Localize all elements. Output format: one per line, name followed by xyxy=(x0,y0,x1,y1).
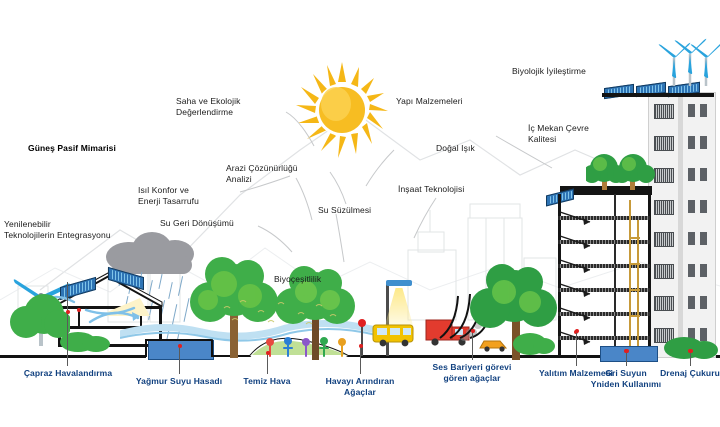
feature-label-yagmur-suyu-hasadi: Yağmur Suyu Hasadı xyxy=(122,376,236,387)
concept-label-ic-mekan-cevre-kalitesi: İç Mekan Çevre Kalitesi xyxy=(528,123,628,145)
feature-label-ses-bariyeri-goren-agaclar: Ses Bariyeri görevi gören ağaçlar xyxy=(420,362,524,384)
concept-label-insaat-teknolojisi: İnşaat Teknolojisi xyxy=(398,184,498,195)
concept-label-dogal-isik: Doğal Işık xyxy=(436,143,506,154)
feature-label-temiz-hava: Temiz Hava xyxy=(232,376,302,387)
concept-label-biyocesitlilik: Biyoçeşitlilik xyxy=(274,274,354,285)
feature-label-havayi-arindiran-agaclar: Havayı Arındıran Ağaçlar xyxy=(312,376,408,398)
infographic-canvas: Güneş Pasif MimarisiSaha ve Ekolojik Değ… xyxy=(0,0,720,427)
concept-label-yapi-malzemeleri: Yapı Malzemeleri xyxy=(396,96,496,107)
feature-label-capraz-havalandirma: Çapraz Havalandırma xyxy=(8,368,128,379)
concept-label-saha-ve-ekolojik-degerlendirme: Saha ve Ekolojik Değerlendirme xyxy=(176,96,286,118)
concept-label-arazi-cozunurlugu-analizi: Arazi Çözünürlüğü Analizi xyxy=(226,163,336,185)
concept-label-biyolojik-iyilestirme: Biyolojik İyileştirme xyxy=(512,66,622,77)
concept-label-gunes-pasif-mimarisi: Güneş Pasif Mimarisi xyxy=(28,143,148,154)
concept-label-su-suzulmesi: Su Süzülmesi xyxy=(318,205,398,216)
concept-label-yenilenebilir-teknolojilerin-entegrasyonu: Yenilenebilir Teknolojilerin Entegrasyon… xyxy=(4,219,154,241)
concept-label-su-geri-donusumu: Su Geri Dönüşümü xyxy=(160,218,270,229)
feature-label-drenaj-cukuru: Drenaj Çukuru xyxy=(648,368,720,379)
concept-label-isil-konfor-ve-enerji-tasarrufu: Isıl Konfor ve Enerji Tasarrufu xyxy=(138,185,238,207)
